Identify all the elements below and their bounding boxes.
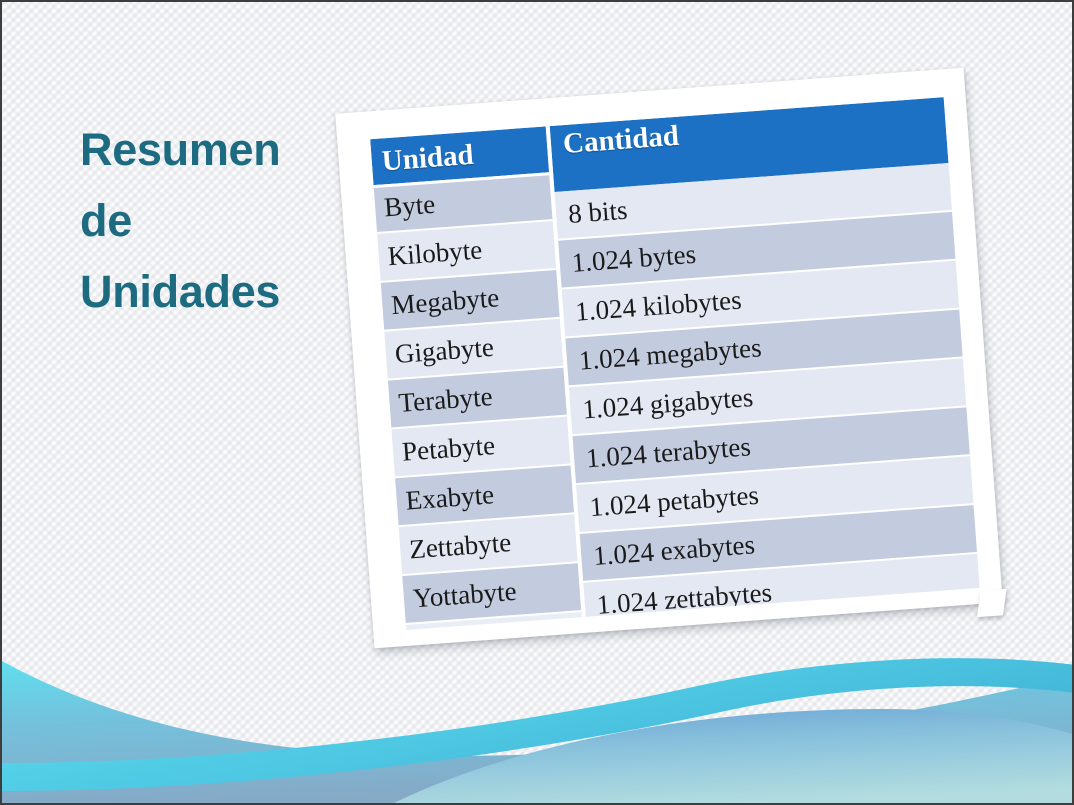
table-picture-container[interactable]: Unidad ByteKilobyteMegabyteGigabyteTerab… bbox=[335, 68, 1003, 649]
wave-arc bbox=[394, 709, 1074, 803]
table-column-cantidad-body: 8 bits1.024 bytes1.024 kilobytes1.024 me… bbox=[555, 163, 980, 630]
wave-main bbox=[2, 661, 1074, 803]
wave-ribbon bbox=[2, 658, 1074, 791]
wave-decoration bbox=[2, 613, 1074, 803]
table-column-cantidad: Cantidad 8 bits1.024 bytes1.024 kilobyte… bbox=[550, 97, 980, 617]
page-title: Resumen de Unidades bbox=[80, 114, 370, 327]
page-fold-corner bbox=[977, 589, 1007, 617]
units-table: Unidad ByteKilobyteMegabyteGigabyteTerab… bbox=[370, 97, 979, 630]
presentation-slide: Resumen de Unidades Unidad ByteKilobyteM… bbox=[0, 0, 1074, 805]
table-column-unidad-body: ByteKilobyteMegabyteGigabyteTerabytePeta… bbox=[374, 172, 582, 625]
table-column-unidad: Unidad ByteKilobyteMegabyteGigabyteTerab… bbox=[370, 126, 582, 630]
